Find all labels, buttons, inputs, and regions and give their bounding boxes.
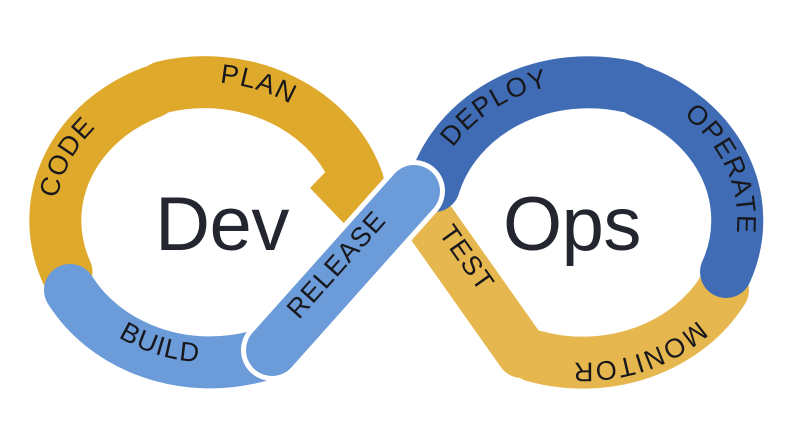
- center-label-dev: Dev: [155, 182, 289, 267]
- devops-infinity-diagram: CODE PLAN RELEASE DEPLOY OPERATE MONITOR…: [0, 0, 792, 440]
- center-label-ops: Ops: [503, 182, 641, 267]
- devops-loop-svg: CODE PLAN RELEASE DEPLOY OPERATE MONITOR…: [0, 0, 792, 440]
- segment-code[interactable]: [55, 92, 152, 272]
